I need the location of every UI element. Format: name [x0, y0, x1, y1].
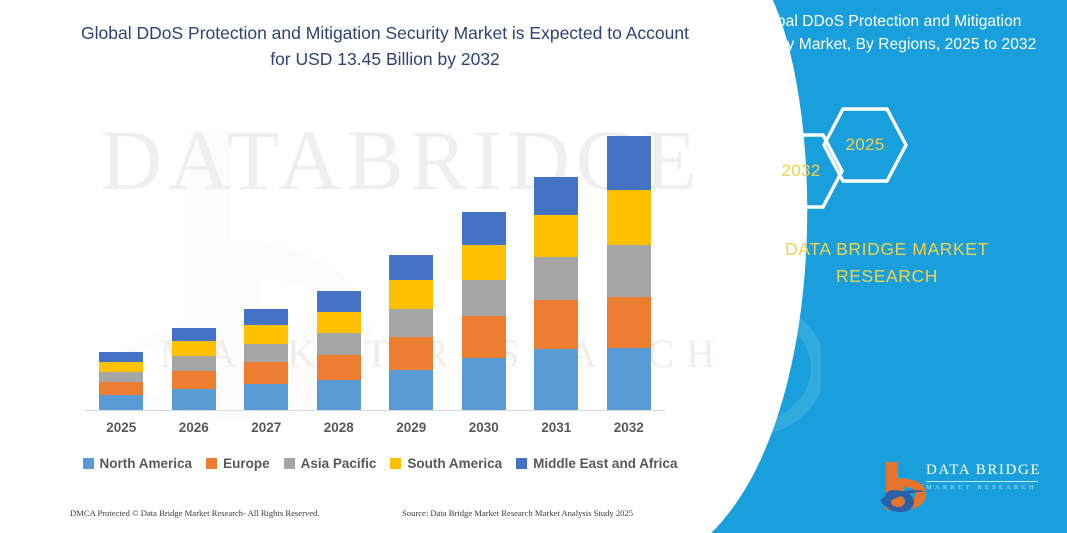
- panel-brand-text: DATA BRIDGE MARKET RESEARCH: [727, 236, 1047, 290]
- bar-segment-asia-pacific: [607, 245, 651, 297]
- bar-segment-middle-east-and-africa: [607, 136, 651, 190]
- x-axis-tick-labels: 20252026202720282029203020312032: [85, 420, 665, 442]
- bar-segment-south-america: [534, 215, 578, 257]
- hexagon-group: 2032 2025: [737, 108, 1037, 213]
- bar-segment-south-america: [99, 362, 143, 372]
- hexagon-2032-label: 2032: [781, 161, 820, 181]
- panel-brand-line-1: DATA BRIDGE MARKET: [727, 236, 1047, 263]
- legend-swatch-icon: [390, 458, 401, 469]
- logo-divider: [926, 481, 1038, 482]
- bar-segment-asia-pacific: [172, 356, 216, 371]
- bar-segment-south-america: [389, 280, 433, 309]
- bar-segment-south-america: [172, 341, 216, 356]
- bar-segment-europe: [534, 300, 578, 349]
- panel-title: Global DDoS Protection and Mitigation Se…: [727, 10, 1047, 57]
- logo-name: DATA BRIDGE: [926, 462, 1041, 479]
- legend-item-south-america[interactable]: South America: [390, 456, 502, 471]
- bar-segment-middle-east-and-africa: [534, 177, 578, 215]
- bar-segment-europe: [99, 382, 143, 395]
- legend-swatch-icon: [516, 458, 527, 469]
- bar-segment-asia-pacific: [99, 372, 143, 382]
- right-panel: Global DDoS Protection and Mitigation Se…: [707, 0, 1067, 533]
- logo-text: DATA BRIDGE MARKET RESEARCH: [926, 462, 1041, 491]
- legend-swatch-icon: [284, 458, 295, 469]
- bar-2028: [317, 291, 361, 410]
- bar-segment-south-america: [607, 190, 651, 245]
- infographic-page: DATABRIDGE MARKET RESEARCH Global DDoS P…: [0, 0, 1067, 533]
- bar-segment-north-america: [534, 349, 578, 410]
- panel-brand-line-2: RESEARCH: [727, 263, 1047, 290]
- bar-segment-middle-east-and-africa: [172, 328, 216, 341]
- bar-segment-south-america: [462, 245, 506, 280]
- x-label-2026: 2026: [158, 420, 230, 435]
- x-label-2025: 2025: [85, 420, 157, 435]
- hexagon-2025: 2025: [821, 106, 909, 184]
- legend-label: Europe: [223, 456, 270, 471]
- bar-segment-europe: [462, 316, 506, 358]
- footer-copyright: DMCA Protected © Data Bridge Market Rese…: [70, 508, 320, 518]
- legend-item-north-america[interactable]: North America: [83, 456, 193, 471]
- bar-2030: [462, 212, 506, 410]
- x-label-2027: 2027: [230, 420, 302, 435]
- bar-segment-europe: [172, 371, 216, 389]
- legend-item-europe[interactable]: Europe: [206, 456, 270, 471]
- bar-segment-asia-pacific: [317, 333, 361, 355]
- bar-segment-europe: [389, 337, 433, 370]
- bar-segment-middle-east-and-africa: [462, 212, 506, 245]
- x-axis-line: [85, 410, 665, 411]
- legend-label: Middle East and Africa: [533, 456, 677, 471]
- bar-segment-europe: [607, 297, 651, 348]
- page-title: Global DDoS Protection and Mitigation Se…: [80, 20, 690, 73]
- bar-segment-asia-pacific: [534, 257, 578, 300]
- legend-item-middle-east-and-africa[interactable]: Middle East and Africa: [516, 456, 677, 471]
- bar-2029: [389, 255, 433, 410]
- bar-2031: [534, 177, 578, 410]
- bar-segment-south-america: [317, 312, 361, 333]
- x-label-2029: 2029: [375, 420, 447, 435]
- bar-segment-north-america: [607, 348, 651, 410]
- legend-item-asia-pacific[interactable]: Asia Pacific: [284, 456, 377, 471]
- legend-swatch-icon: [206, 458, 217, 469]
- legend-label: North America: [100, 456, 193, 471]
- legend-label: South America: [407, 456, 502, 471]
- bar-segment-south-america: [244, 325, 288, 344]
- bar-segment-north-america: [389, 370, 433, 410]
- x-label-2032: 2032: [593, 420, 665, 435]
- bar-segment-asia-pacific: [244, 344, 288, 362]
- bar-2025: [99, 352, 143, 410]
- hexagon-2025-label: 2025: [845, 135, 884, 155]
- company-logo: DATA BRIDGE MARKET RESEARCH: [878, 458, 1058, 510]
- footer-source: Source: Data Bridge Market Research Mark…: [402, 508, 633, 518]
- bar-segment-europe: [244, 362, 288, 384]
- bar-segment-north-america: [172, 389, 216, 410]
- bar-segment-europe: [317, 355, 361, 380]
- bar-segment-asia-pacific: [462, 280, 506, 316]
- x-label-2031: 2031: [520, 420, 592, 435]
- bar-segment-middle-east-and-africa: [99, 352, 143, 362]
- bar-2026: [172, 328, 216, 410]
- bar-segment-north-america: [462, 358, 506, 410]
- bar-segment-middle-east-and-africa: [317, 291, 361, 312]
- bar-segment-middle-east-and-africa: [389, 255, 433, 280]
- bar-segment-north-america: [317, 380, 361, 410]
- stacked-bar-chart: [85, 110, 665, 410]
- bar-segment-middle-east-and-africa: [244, 309, 288, 325]
- legend-swatch-icon: [83, 458, 94, 469]
- x-label-2028: 2028: [303, 420, 375, 435]
- legend-label: Asia Pacific: [301, 456, 377, 471]
- logo-subtitle: MARKET RESEARCH: [926, 484, 1041, 491]
- bar-2027: [244, 309, 288, 410]
- bar-segment-asia-pacific: [389, 309, 433, 337]
- chart-legend: North AmericaEuropeAsia PacificSouth Ame…: [85, 456, 675, 471]
- bar-2032: [607, 136, 651, 410]
- x-label-2030: 2030: [448, 420, 520, 435]
- bar-segment-north-america: [99, 395, 143, 410]
- bar-segment-north-america: [244, 384, 288, 410]
